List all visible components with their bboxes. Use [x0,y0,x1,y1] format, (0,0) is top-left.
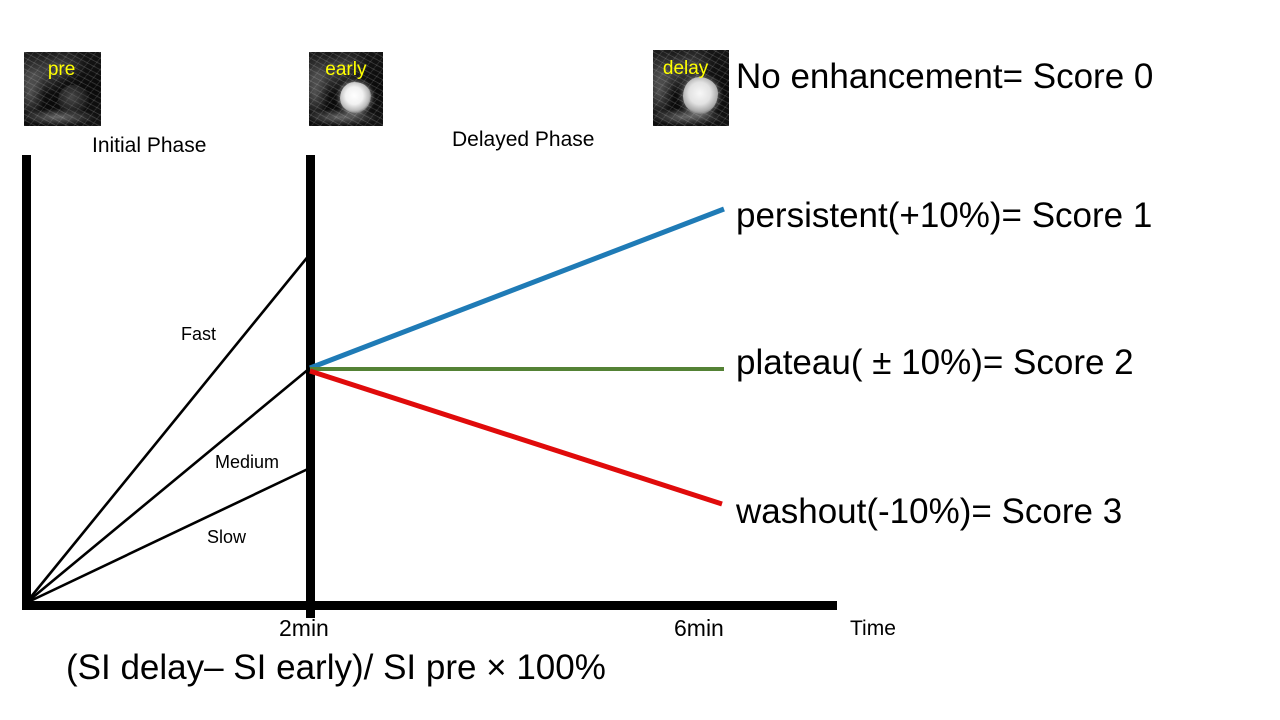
curve-persistent-line [310,209,724,368]
mri-thumbnail-pre[interactable]: pre [24,52,101,126]
curve-slow-line [26,468,310,603]
slope-label-medium: Medium [215,452,279,473]
mri-thumbnail-delay-label: delay [663,59,708,78]
mri-thumbnail-early-label: early [325,60,366,79]
x-axis-title: Time [850,617,896,641]
lesion-region [58,85,89,115]
phase-divider-2min [306,155,315,618]
slope-label-slow: Slow [207,527,246,548]
mri-thumbnail-pre-label: pre [48,60,75,79]
score-legend-3: washout(-10%)= Score 3 [736,492,1122,532]
mri-thumbnail-delay[interactable]: delay [653,50,729,126]
curve-fast-line [26,254,310,603]
mri-thumbnail-early[interactable]: early [309,52,383,126]
initial-phase-label: Initial Phase [92,134,206,158]
x-tick-label-2min: 2min [279,615,329,642]
enhancement-formula: (SI delay– SI early)/ SI pre × 100% [66,648,606,688]
x-tick-label-6min: 6min [674,615,724,642]
delayed-phase-label: Delayed Phase [452,128,594,152]
y-axis [22,155,31,610]
slide-canvas: pre early delay Initial Phase Delayed Ph… [0,0,1280,720]
curve-medium-line [26,368,310,603]
x-axis [22,601,837,610]
score-legend-1: persistent(+10%)= Score 1 [736,196,1152,236]
score-legend-0: No enhancement= Score 0 [736,57,1153,97]
slope-label-fast: Fast [181,324,216,345]
score-legend-2: plateau( ± 10%)= Score 2 [736,343,1134,383]
curve-washout-line [310,371,722,504]
